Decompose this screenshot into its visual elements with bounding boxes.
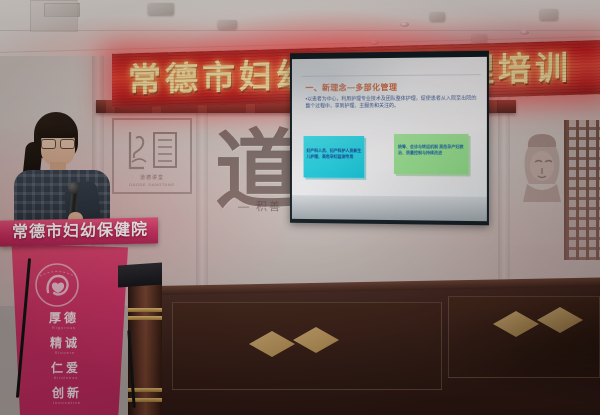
podium-motto-1: 厚德 Rigorous [36, 312, 92, 331]
motto-en: Rigorous [36, 325, 92, 331]
podium-nameplate-text: 常德市妇幼保健院 [12, 221, 148, 244]
hair-fringe [37, 122, 77, 138]
motto-en: Kindness [38, 375, 94, 381]
microphone-icon [68, 182, 79, 194]
podium-motto-2: 精诚 Sincere [37, 337, 93, 356]
motto-en: Sincere [37, 350, 93, 356]
laptop-on-podium [118, 262, 162, 287]
table-shading [128, 286, 600, 415]
conference-hall-photo: 道德讲堂 DAODE JIANGTANG 道 — 积善 [0, 0, 600, 415]
motto-cn: 仁爱 [38, 362, 94, 375]
motto-cn: 精诚 [37, 337, 93, 350]
podium-motto-4: 创新 Innovative [39, 387, 95, 406]
motto-cn: 创新 [39, 387, 95, 400]
motto-en: Innovative [39, 400, 95, 406]
podium-nameplate: 常德市妇幼保健院 [0, 217, 158, 246]
projection-screen: 一、新理念—多部化管理 •以患者为中心，利用护理专业技术及团队整体护理，促使患者… [290, 51, 489, 226]
podium-motto-3: 仁爱 Kindness [38, 362, 94, 381]
mother-and-child-logo-icon [34, 262, 80, 308]
motto-cn: 厚德 [36, 312, 92, 325]
projected-slide: 一、新理念—多部化管理 •以患者为中心，利用护理专业技术及团队整体护理，促使患者… [292, 57, 487, 221]
glasses-icon [41, 139, 75, 147]
screen-glare [292, 57, 487, 221]
